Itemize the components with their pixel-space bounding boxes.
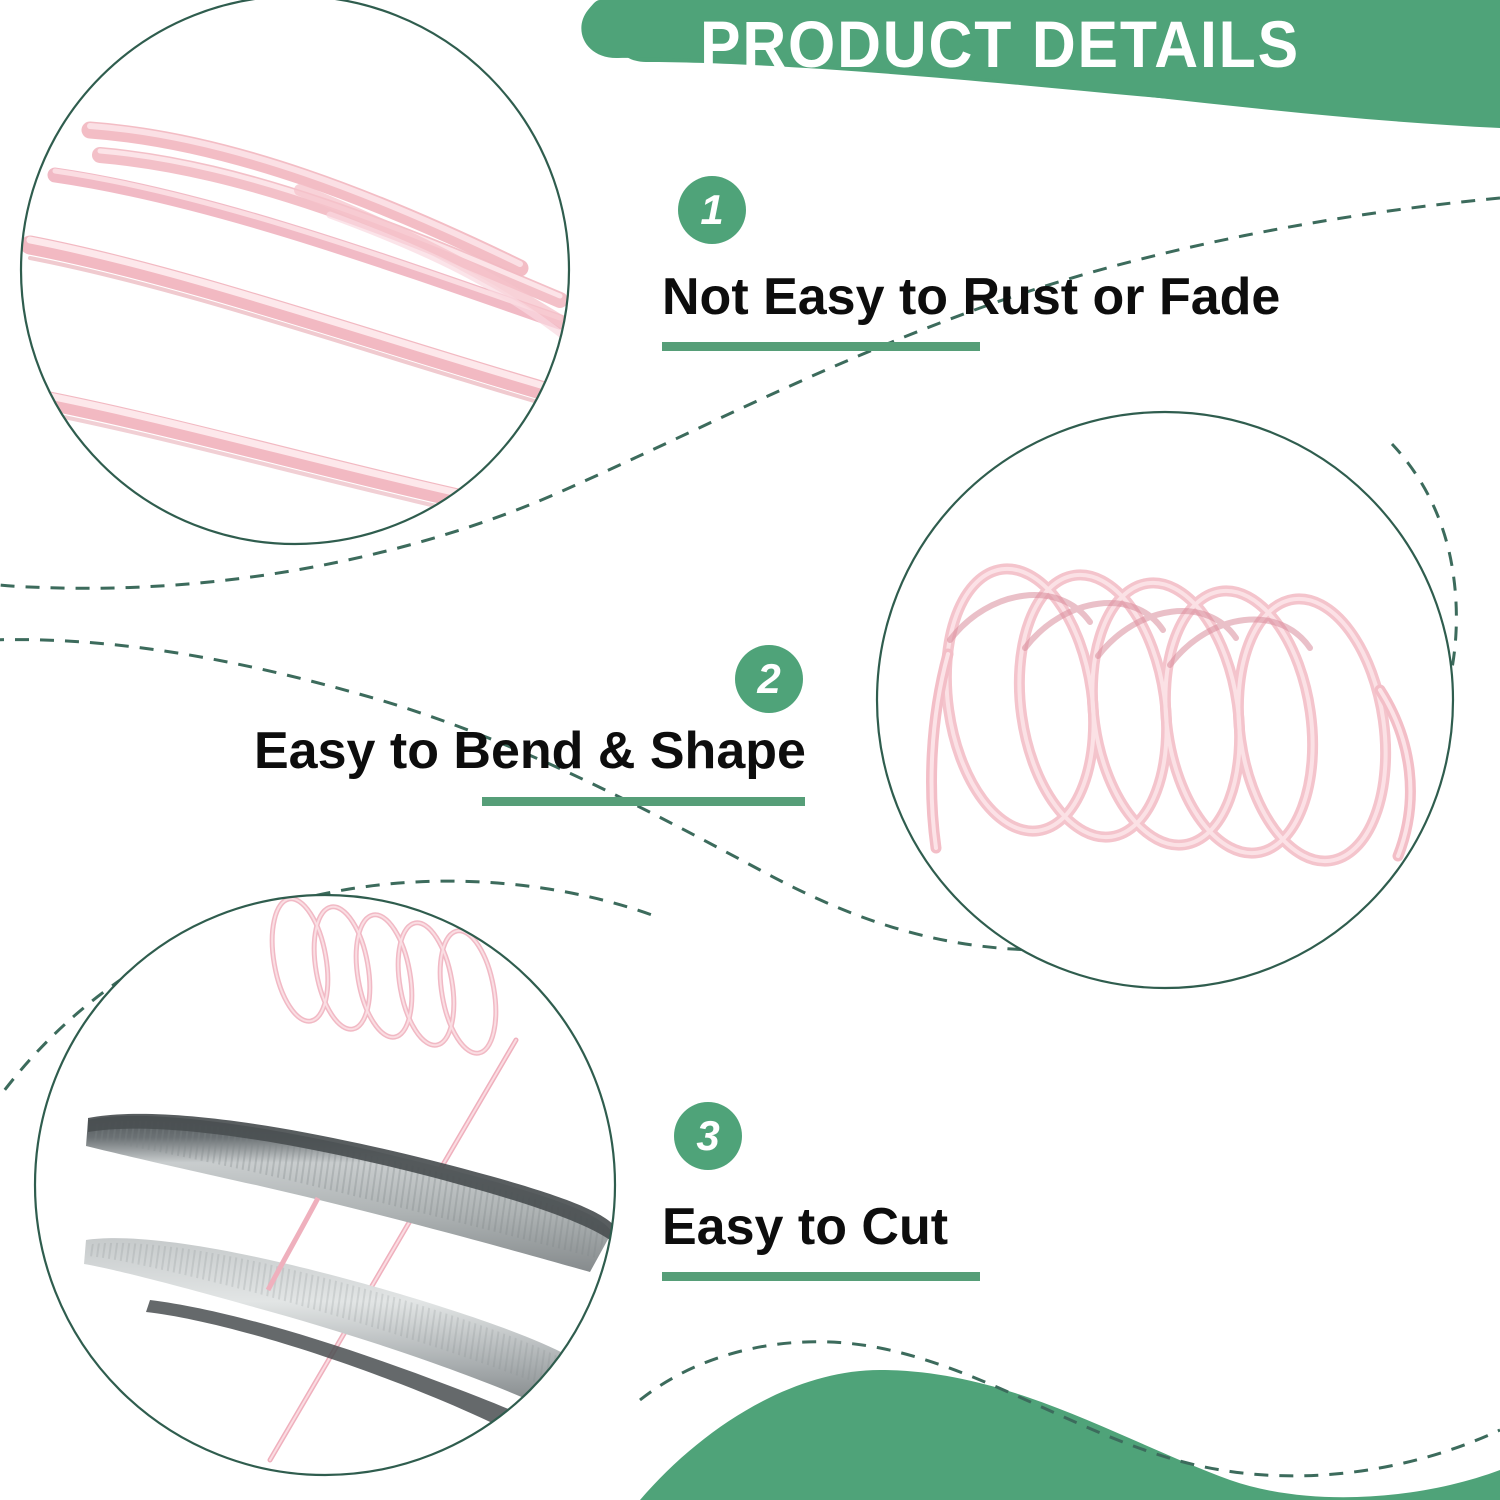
feature-image-2-coil <box>870 405 1470 1005</box>
dashed-path-top <box>0 198 1500 588</box>
feature-title-1: Not Easy to Rust or Fade <box>662 268 1280 326</box>
feature-underline-2 <box>482 797 805 806</box>
dashed-path-lower-left <box>0 881 660 1110</box>
feature-title-3: Easy to Cut <box>662 1198 948 1256</box>
feature-circle-3-outline <box>35 895 615 1475</box>
feature-number-badge-1: 1 <box>678 176 746 244</box>
feature-circle-2-outline <box>877 412 1453 988</box>
feature-circle-1-outline <box>21 0 569 544</box>
feature-number-badge-3: 3 <box>674 1102 742 1170</box>
feature-image-3-pliers <box>30 890 630 1490</box>
page-title: PRODUCT DETAILS <box>678 8 1322 80</box>
plier-upper-jaw <box>86 1114 616 1272</box>
plier-lower-jaw <box>84 1238 600 1470</box>
feature-title-2: Easy to Bend & Shape <box>254 722 806 780</box>
feature-underline-1 <box>662 342 980 351</box>
product-details-infographic: PRODUCT DETAILS 1 Not Easy to Rust or Fa… <box>0 0 1500 1500</box>
feature-image-1-wire-strands <box>18 0 580 560</box>
feature-underline-3 <box>662 1272 980 1281</box>
dashed-path-bottom <box>640 1342 1500 1476</box>
dashed-path-middle <box>0 444 1456 950</box>
footer-wave-shape <box>640 1370 1500 1500</box>
feature-number-badge-2: 2 <box>735 645 803 713</box>
